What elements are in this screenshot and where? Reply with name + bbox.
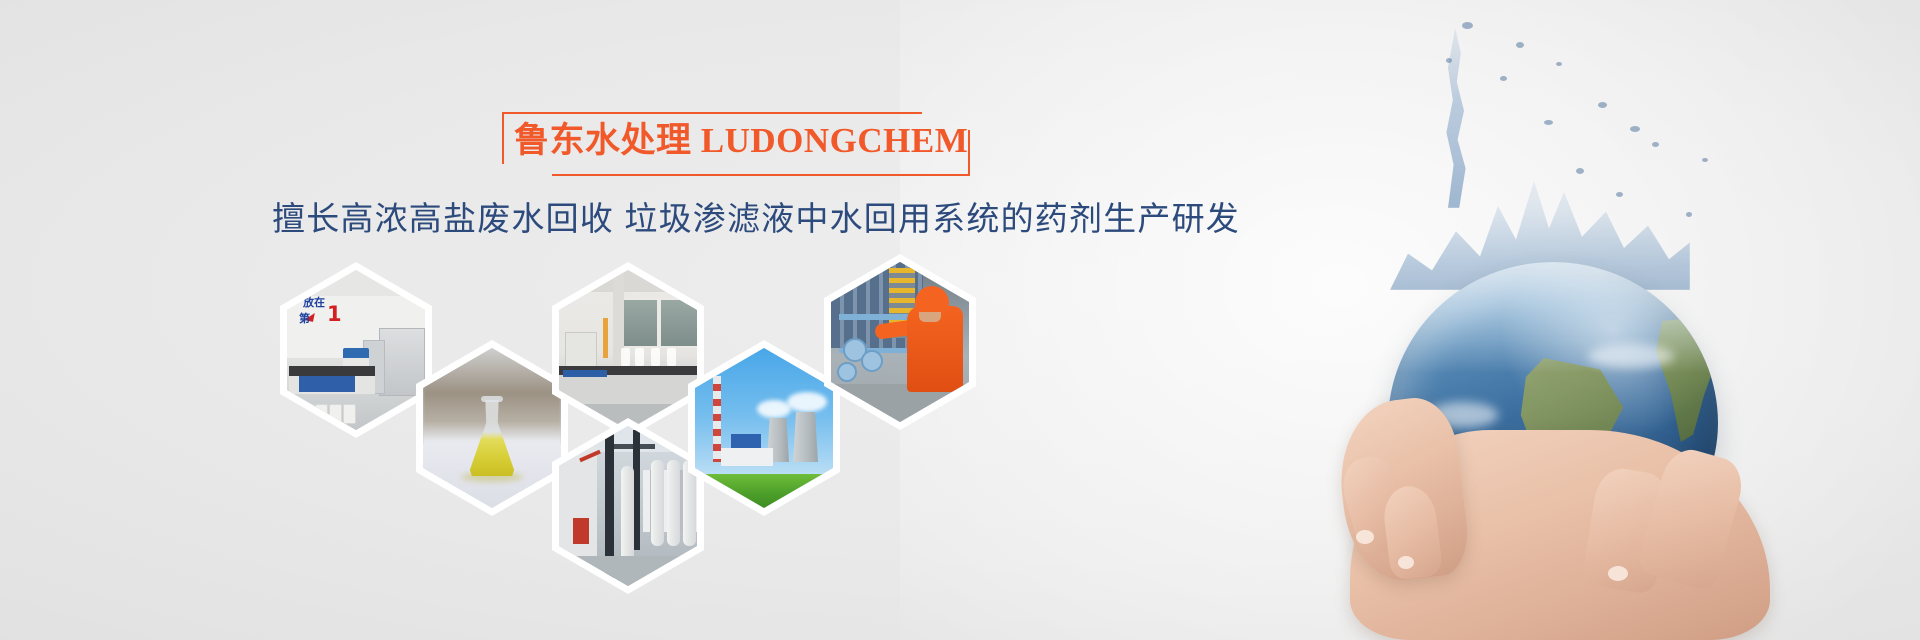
fingernail [1356,530,1374,544]
water-droplet [1556,62,1562,66]
water-droplet [1446,58,1452,63]
hex-image-membrane-plant [559,426,697,586]
water-droplet [1686,212,1692,217]
wall-slogan-number: 1 [327,302,342,326]
water-droplet [1702,158,1708,162]
scene-flask-sample [423,348,561,508]
cooling-tower-icon [793,412,818,462]
title-bracket-top-line [502,112,922,114]
wall-slogan-bottom: 第 [299,310,310,326]
hex-image-lab-equipment: 放在 第 1 [287,270,425,430]
title-bracket-right-line [968,130,970,176]
water-jet [1436,28,1476,208]
hex-image-lab-interior [559,270,697,430]
company-title-block: 鲁东水处理 LUDONGCHEM [500,112,936,176]
safety-helmet-icon [915,286,949,312]
water-droplet [1544,120,1553,125]
hex-image-power-plant [695,348,833,508]
water-droplet [1516,42,1524,48]
water-globe-artwork [1290,0,1920,640]
smokestack-icon [713,376,721,462]
hex-tile-power-plant[interactable] [688,340,840,516]
hex-tile-lab-interior[interactable] [552,262,704,438]
continent-africa [1656,316,1718,442]
hero-banner: 鲁东水处理 LUDONGCHEM 擅长高浓高盐废水回收 垃圾渗滤液中水回用系统的… [0,0,1920,640]
water-droplet [1462,22,1473,29]
fingernail [1608,566,1628,581]
scene-field-worker [831,262,969,422]
hex-image-flask-sample [423,348,561,508]
scene-power-plant [695,348,833,508]
title-bracket-bottom-line [552,174,970,176]
hex-image-field-worker [831,262,969,422]
water-droplet [1652,142,1659,147]
water-droplet [1630,126,1640,132]
hex-tile-membrane-plant[interactable] [552,418,704,594]
fingernail [1398,556,1414,569]
wall-slogan-top: 放在 [303,294,325,310]
water-droplet [1500,76,1507,81]
water-droplet [1576,168,1584,174]
water-splash [1330,0,1750,300]
hex-tile-flask-sample[interactable] [416,340,568,516]
scene-lab-equipment: 放在 第 1 [287,270,425,430]
scene-lab-interior [559,270,697,430]
company-title: 鲁东水处理 LUDONGCHEM [514,118,968,164]
title-bracket-left-line [502,112,504,164]
company-slogan: 擅长高浓高盐废水回收 垃圾渗滤液中水回用系统的药剂生产研发 [272,192,1240,240]
scene-membrane-plant [559,426,697,586]
hexagon-image-gallery: 放在 第 1 [280,248,1200,640]
hex-tile-lab-equipment[interactable]: 放在 第 1 [280,262,432,438]
hex-tile-field-worker[interactable] [824,254,976,430]
water-droplet [1616,192,1623,197]
water-droplet [1598,102,1607,108]
